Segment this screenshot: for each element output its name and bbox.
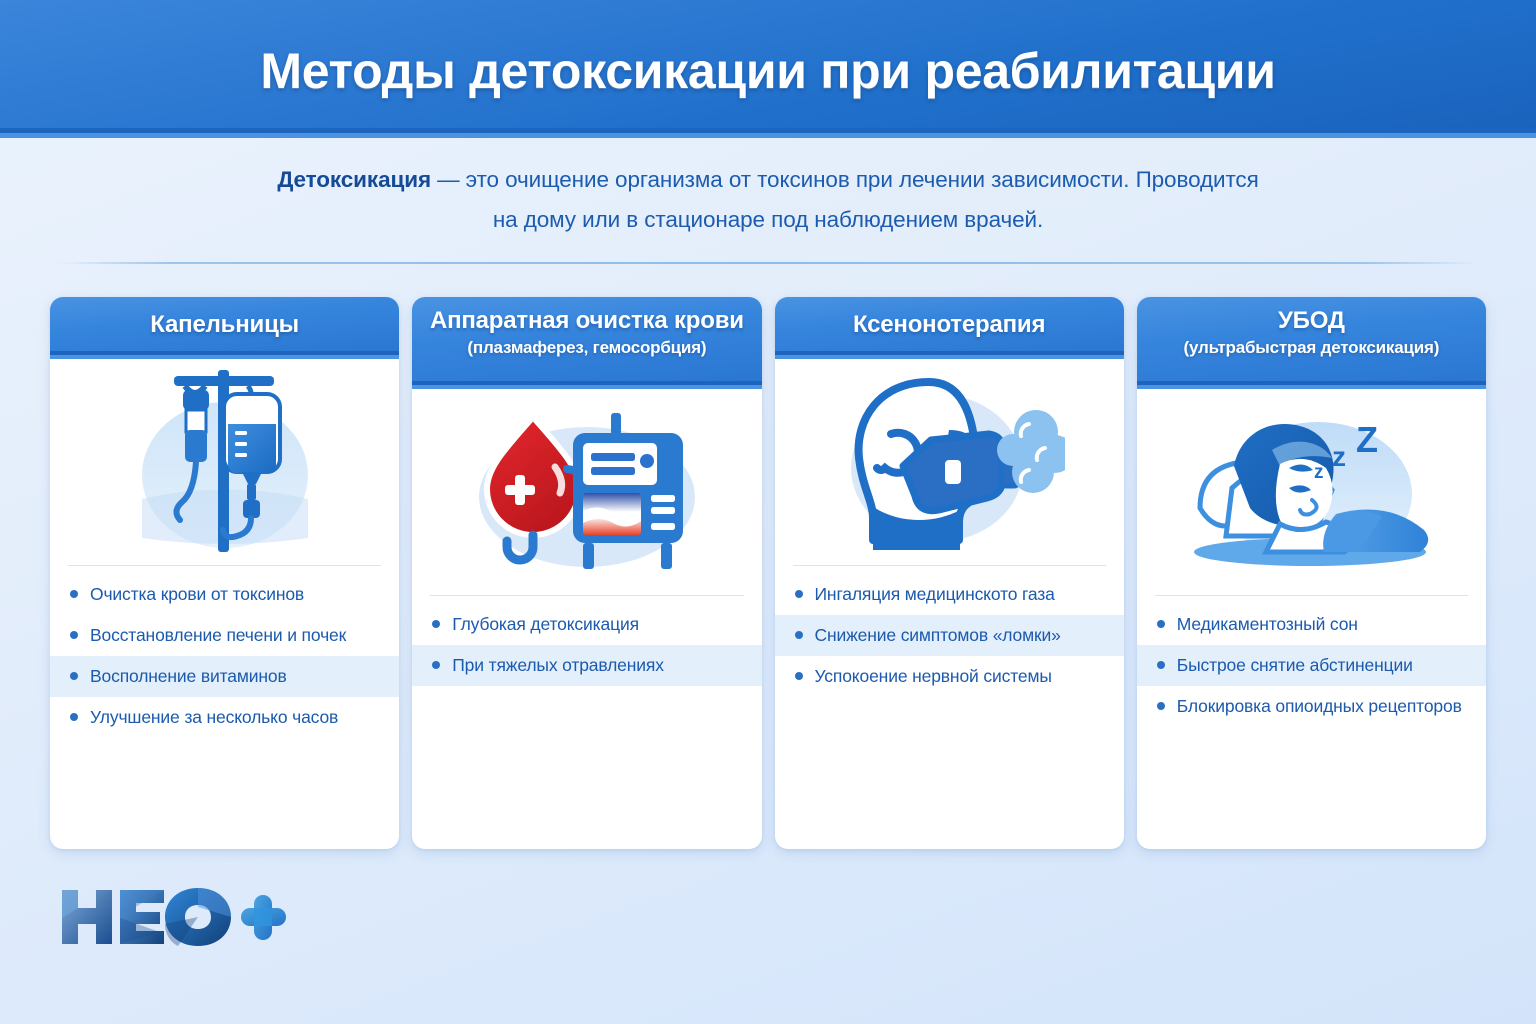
sedated-sleep-icon: z z Z [1137,393,1486,589]
card-kapelnicy[interactable]: Капельницы [50,297,399,849]
list-item: Успокоение нервной системы [775,656,1124,697]
card-body: Очистка крови от токсинов Восстановление… [50,355,399,849]
list-item: Очистка крови от токсинов [50,574,399,615]
list-item: Ингаляция медицинското газа [775,574,1124,615]
list-item: При тяжелых отравлениях [412,645,761,686]
card-subtitle: (ультрабыстрая детоксикация) [1147,336,1476,360]
svg-text:z: z [1332,441,1346,472]
card-header: Ксенонотерапия [775,297,1124,355]
benefit-list: Глубокая детоксикация При тяжелых отравл… [412,596,761,849]
card-ubod[interactable]: УБОД (ультрабыстрая детоксикация) [1137,297,1486,849]
card-ksenonoterapiya[interactable]: Ксенонотерапия [775,297,1124,849]
card-body: Ингаляция медицинското газа Снижение сим… [775,355,1124,849]
card-header: Аппаратная очистка крови (плазмаферез, г… [412,297,761,385]
header-banner: Методы детоксикации при реабилитации [0,0,1536,133]
iv-drip-icon [50,363,399,559]
card-subtitle: (плазмаферез, гемосорбция) [422,336,751,360]
svg-text:Z: Z [1356,419,1378,460]
brand-logo[interactable] [58,886,288,948]
list-item: Восстановление печени и почек [50,615,399,656]
card-header: УБОД (ультрабыстрая детоксикация) [1137,297,1486,385]
card-apparatnaya-ochistka-krovi[interactable]: Аппаратная очистка крови (плазмаферез, г… [412,297,761,849]
section-divider [58,262,1478,264]
card-title: Ксенонотерапия [853,310,1045,340]
intro-keyword: Детоксикация [277,167,431,192]
list-item: Восполнение витаминов [50,656,399,697]
card-title: Аппаратная очистка крови [422,306,751,336]
card-body: z z Z Медикаментозный сон Быстрое снятие… [1137,385,1486,849]
intro-line-1: Детоксикация — это очищение организма от… [120,160,1416,200]
list-item: Улучшение за несколько часов [50,697,399,738]
list-item: Снижение симптомов «ломки» [775,615,1124,656]
list-item: Блокировка опиоидных рецепторов [1137,686,1486,727]
benefit-list: Ингаляция медицинското газа Снижение сим… [775,566,1124,849]
intro-line-2: на дому или в стационаре под наблюдением… [120,200,1416,240]
card-header: Капельницы [50,297,399,355]
benefit-list: Медикаментозный сон Быстрое снятие абсти… [1137,596,1486,849]
method-cards-row: Капельницы [50,297,1486,849]
xenon-inhalation-icon [775,363,1124,559]
page-title: Методы детоксикации при реабилитации [0,42,1536,100]
list-item: Глубокая детоксикация [412,604,761,645]
benefit-list: Очистка крови от токсинов Восстановление… [50,566,399,849]
list-item: Быстрое снятие абстиненции [1137,645,1486,686]
intro-text: Детоксикация — это очищение организма от… [120,160,1416,240]
blood-purification-icon [412,393,761,589]
card-title: УБОД [1147,306,1476,336]
list-item: Медикаментозный сон [1137,604,1486,645]
intro-line-1-rest: — это очищение организма от токсинов при… [431,167,1259,192]
svg-text:z: z [1314,462,1324,483]
card-body: Глубокая детоксикация При тяжелых отравл… [412,385,761,849]
card-title: Капельницы [150,310,299,340]
